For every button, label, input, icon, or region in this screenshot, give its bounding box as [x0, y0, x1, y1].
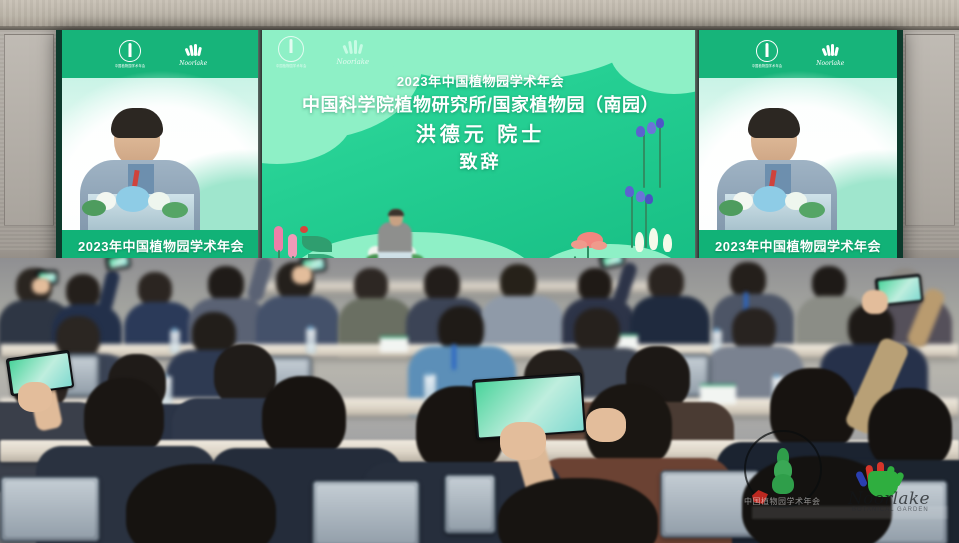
- water-bottle: [170, 330, 180, 354]
- ceiling: [0, 0, 959, 34]
- decor-ladybug-icon: [300, 226, 308, 233]
- podium-flowers-left: [116, 186, 150, 212]
- wall-left: [0, 30, 62, 280]
- screen-speaker-right: [751, 114, 797, 166]
- wall-panel-left: [4, 34, 54, 226]
- auditorium-seat: [0, 476, 100, 542]
- lanyard: [452, 344, 456, 370]
- wall-right: [897, 30, 959, 280]
- watermark-script-text: Noorlake: [848, 489, 930, 509]
- watermark-sub-text: BOTANICAL GARDEN: [852, 507, 929, 513]
- hand: [862, 290, 888, 314]
- screen-title-year: 2023年中国植物园学术年会: [262, 71, 699, 90]
- auditorium-seat: [444, 474, 496, 534]
- smartphone: [599, 258, 626, 269]
- screen-speaker-left: [114, 114, 160, 166]
- live-speaker-body: [378, 222, 412, 252]
- led-screen-wall: 中国植物园学术年会 Noorlake: [56, 30, 903, 282]
- side-caption-title-left: 2023年中国植物园学术年会: [62, 236, 260, 255]
- hand: [500, 422, 546, 460]
- green-hand-leaf-logo-icon: Noorlake: [337, 38, 370, 66]
- podium-greens-left: [82, 200, 106, 216]
- side-screen-feed-right: [699, 78, 897, 230]
- podium-greens-left-2: [162, 202, 188, 218]
- name-card: [380, 336, 408, 352]
- live-speaker-hair: [388, 209, 404, 216]
- wall-panel-right: [905, 34, 955, 226]
- side-caption-title-right: 2023年中国植物园学术年会: [699, 236, 897, 255]
- screen-title-institute: 中国科学院植物研究所/国家植物园（南园）: [262, 91, 699, 117]
- auditorium-seat: [312, 480, 420, 543]
- side-screen-left: 中国植物园学术年会 Noorlake: [62, 30, 260, 282]
- podium-flowers-right: [753, 186, 787, 212]
- side-screen-feed-left: [62, 78, 260, 230]
- name-card: [700, 384, 736, 404]
- hand: [586, 408, 626, 442]
- hand: [18, 382, 52, 412]
- podium-greens-right-2: [799, 202, 825, 218]
- smartphone: [105, 258, 131, 271]
- botanical-garden-emblem-icon: 中国植物园学术年会: [276, 36, 307, 68]
- conference-photo-scene: 中国植物园学术年会 Noorlake: [0, 0, 959, 543]
- water-bottle: [306, 328, 316, 354]
- side-screen-right: 中国植物园学术年会 Noorlake: [699, 30, 897, 282]
- audience-area: [0, 258, 959, 543]
- hand: [32, 278, 50, 294]
- podium-greens-right: [719, 200, 743, 216]
- main-logo-row: 中国植物园学术年会 Noorlake: [276, 36, 369, 68]
- ceiling-slats: [0, 0, 959, 27]
- main-screen: 中国植物园学术年会 Noorlake 2023年中国植物园学术年会 中国科学院植…: [262, 30, 699, 282]
- hand: [292, 266, 312, 284]
